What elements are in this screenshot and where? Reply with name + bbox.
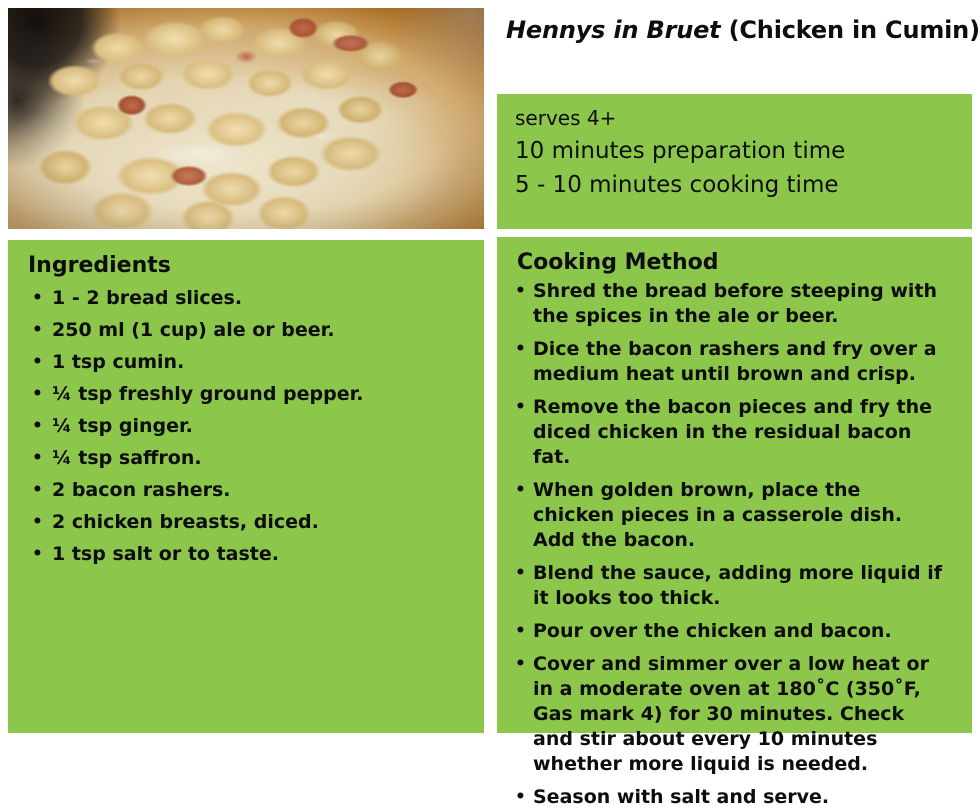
list-item: Shred the bread before steeping with the… bbox=[497, 279, 958, 329]
cook-time-text: 5 - 10 minutes cooking time bbox=[515, 173, 972, 207]
list-item: Blend the sauce, adding more liquid if i… bbox=[497, 561, 958, 611]
cooking-method-panel: Cooking Method Shred the bread before st… bbox=[497, 237, 972, 733]
list-item: When golden brown, place the chicken pie… bbox=[497, 478, 958, 553]
cooking-method-heading: Cooking Method bbox=[497, 237, 972, 275]
list-item: ¼ tsp saffron. bbox=[8, 442, 470, 474]
list-item: ¼ tsp freshly ground pepper. bbox=[8, 378, 470, 410]
ingredients-heading: Ingredients bbox=[8, 240, 484, 278]
servings-text: serves 4+ bbox=[515, 108, 972, 139]
ingredients-list: 1 - 2 bread slices. 250 ml (1 cup) ale o… bbox=[8, 278, 484, 570]
prep-time-text: 10 minutes preparation time bbox=[515, 139, 972, 173]
list-item: 1 tsp salt or to taste. bbox=[8, 538, 470, 570]
ingredients-panel: Ingredients 1 - 2 bread slices. 250 ml (… bbox=[8, 240, 484, 733]
list-item: 2 bacon rashers. bbox=[8, 474, 470, 506]
serves-list: serves 4+ 10 minutes preparation time 5 … bbox=[497, 94, 972, 207]
cooking-method-list: Shred the bread before steeping with the… bbox=[497, 275, 972, 810]
list-item: 1 - 2 bread slices. bbox=[8, 282, 470, 314]
recipe-photo bbox=[8, 8, 484, 229]
list-item: Dice the bacon rashers and fry over a me… bbox=[497, 337, 958, 387]
list-item: Remove the bacon pieces and fry the dice… bbox=[497, 395, 958, 470]
list-item: ¼ tsp ginger. bbox=[8, 410, 470, 442]
list-item: 1 tsp cumin. bbox=[8, 346, 470, 378]
serves-panel: serves 4+ 10 minutes preparation time 5 … bbox=[497, 94, 972, 229]
page-title: Hennys in Bruet (Chicken in Cumin) bbox=[506, 16, 976, 44]
list-item: 250 ml (1 cup) ale or beer. bbox=[8, 314, 470, 346]
list-item: Pour over the chicken and bacon. bbox=[497, 619, 958, 644]
photo-vignette-layer bbox=[8, 8, 484, 229]
list-item: Season with salt and serve. bbox=[497, 785, 958, 810]
dish-name: Hennys in Bruet bbox=[506, 16, 720, 44]
list-item: Cover and simmer over a low heat or in a… bbox=[497, 652, 958, 777]
dish-translation: (Chicken in Cumin) bbox=[729, 16, 980, 44]
list-item: 2 chicken breasts, diced. bbox=[8, 506, 470, 538]
